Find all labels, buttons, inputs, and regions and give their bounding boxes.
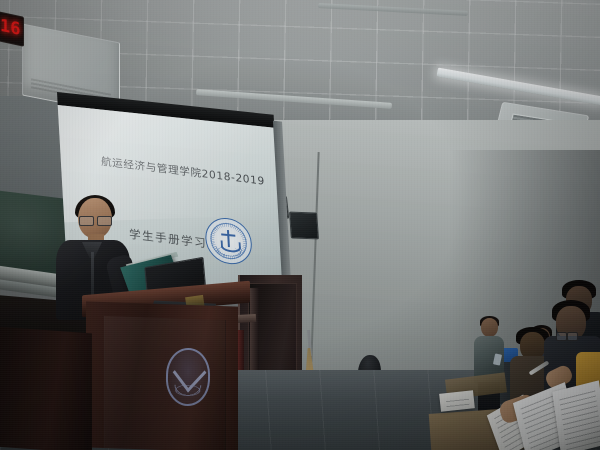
- university-anchor-emblem-icon: [204, 216, 253, 267]
- book-text-lines: [446, 397, 470, 407]
- classroom-photo: 16 航运经济与管理学院2018-2019 学生手册学习 测试: [0, 0, 600, 450]
- presenter-placket: [91, 252, 94, 300]
- open-handbook: [439, 390, 475, 411]
- slide-title: 航运经济与管理学院2018-2019: [101, 154, 265, 189]
- eyeglasses-icon: [79, 216, 112, 224]
- standing-student: [474, 318, 504, 414]
- led-clock-display: 16: [0, 11, 24, 47]
- open-handbook: [552, 380, 600, 450]
- eyeglasses-icon: [556, 332, 578, 339]
- school-crest-oval-icon: [165, 348, 210, 407]
- crest-waves-icon: [173, 385, 203, 398]
- slide-subtitle: 学生手册学习: [129, 226, 208, 251]
- wall-speaker: [289, 212, 319, 240]
- lectern-left-face: [0, 327, 92, 450]
- book-text-lines: [559, 388, 600, 450]
- clock-digits: 16: [0, 16, 20, 40]
- student-head: [481, 318, 498, 337]
